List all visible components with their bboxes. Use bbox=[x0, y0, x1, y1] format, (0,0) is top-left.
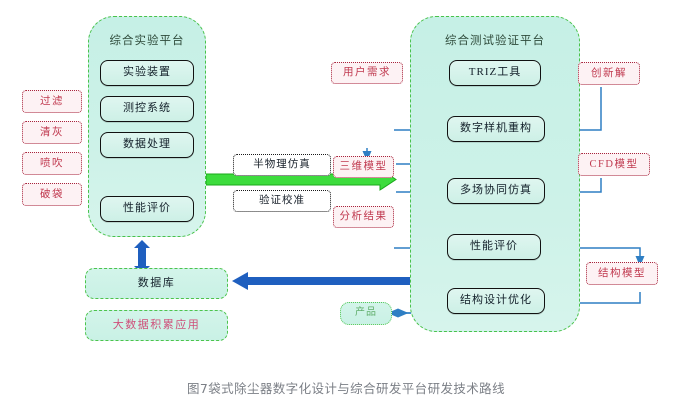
process-box-digital-prototype[interactable]: 数字样机重构 bbox=[447, 116, 545, 142]
annotation-3d-model[interactable]: 三维模型 bbox=[333, 156, 394, 178]
annotation-dust-cleaning[interactable]: 清灰 bbox=[22, 121, 82, 144]
process-box-structure-optimization[interactable]: 结构设计优化 bbox=[447, 288, 545, 314]
process-box-measurement-control[interactable]: 测控系统 bbox=[100, 96, 194, 122]
right-platform-title: 综合测试验证平台 bbox=[411, 35, 579, 47]
figure-caption: 图7袋式除尘器数字化设计与综合研发平台研发技术路线 bbox=[0, 378, 692, 397]
output-box-product[interactable]: 产品 bbox=[340, 302, 392, 325]
annotation-innovative-solution[interactable]: 创新解 bbox=[578, 62, 640, 85]
process-box-performance-evaluation-right[interactable]: 性能评价 bbox=[447, 234, 541, 260]
annotation-structural-model[interactable]: 结构模型 bbox=[586, 262, 658, 285]
annotation-semi-physical-simulation[interactable]: 半物理仿真 bbox=[233, 154, 331, 176]
annotation-user-requirement[interactable]: 用户需求 bbox=[331, 62, 403, 84]
process-box-data-processing[interactable]: 数据处理 bbox=[100, 132, 194, 158]
storage-box-bigdata-application[interactable]: 大数据积累应用 bbox=[85, 310, 228, 341]
diagram-canvas: 综合实验平台 实验装置 测控系统 数据处理 性能评价 过滤 清灰 喷吹 破袋 半… bbox=[0, 0, 692, 412]
annotation-analysis-result[interactable]: 分析结果 bbox=[333, 206, 394, 228]
storage-box-database[interactable]: 数据库 bbox=[85, 268, 228, 299]
left-platform-title: 综合实验平台 bbox=[89, 35, 205, 47]
annotation-filtration[interactable]: 过滤 bbox=[22, 90, 82, 113]
process-box-performance-evaluation-left[interactable]: 性能评价 bbox=[100, 196, 194, 222]
process-box-triz-tool[interactable]: TRIZ工具 bbox=[449, 60, 541, 86]
annotation-verification-calibration[interactable]: 验证校准 bbox=[233, 190, 331, 212]
annotation-pulse-jet[interactable]: 喷吹 bbox=[22, 152, 82, 175]
annotation-bag-rupture[interactable]: 破袋 bbox=[22, 183, 82, 206]
process-box-experiment-device[interactable]: 实验装置 bbox=[100, 60, 194, 86]
annotation-cfd-model[interactable]: CFD模型 bbox=[578, 153, 650, 176]
process-box-multifield-simulation[interactable]: 多场协同仿真 bbox=[447, 178, 545, 204]
